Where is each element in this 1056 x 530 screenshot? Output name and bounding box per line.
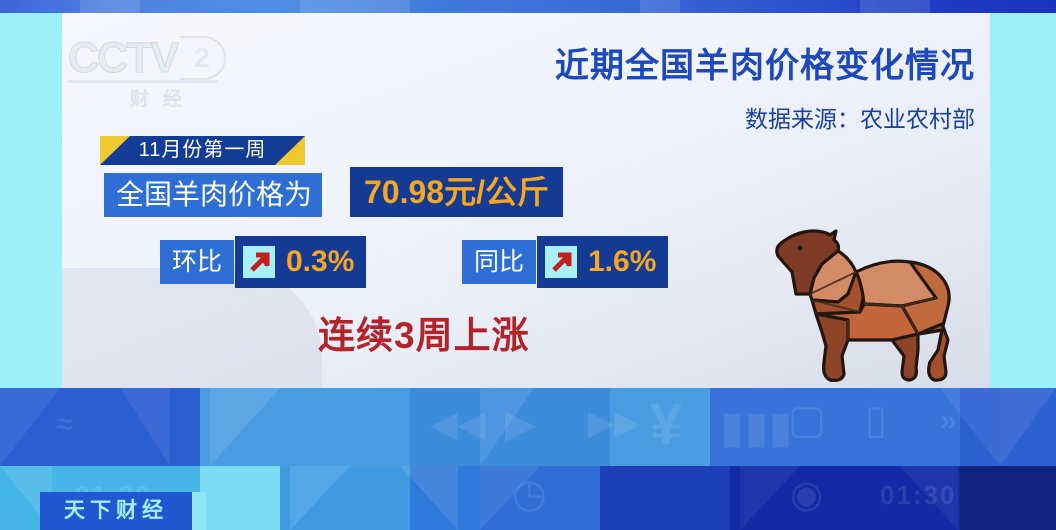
stat-chip-mom-label: 环比 (160, 240, 234, 284)
program-name-tag: 天下财经 (40, 492, 192, 530)
share-icon: ▯ (865, 400, 887, 440)
ribbon-label: 11月份第一周 (100, 136, 305, 165)
wifi-icon: ≈ (56, 410, 72, 440)
data-source-label: 数据来源：农业农村部 (455, 100, 975, 134)
chevron-right-icon: » (940, 406, 957, 436)
arrow-up-right-icon (545, 246, 577, 278)
arrow-up-right-icon (243, 246, 275, 278)
ghost-time-right: 01:30 (880, 480, 957, 511)
location-icon: ◉ (790, 476, 823, 514)
cctv-logo-underline (68, 80, 218, 83)
stat-chip-mom-value: 0.3% (286, 245, 354, 279)
price-label: 全国羊肉价格为 (104, 173, 322, 217)
cctv-logo-number: 2 (180, 36, 226, 80)
program-name-label: 天下财经 (40, 492, 192, 530)
page-title: 近期全国羊肉价格变化情况 (455, 38, 975, 87)
cctv-logo: CCTV 2 财经 (62, 30, 247, 108)
broadcast-graphic-stage: CCTV 2 财经 近期全国羊肉价格变化情况 数据来源：农业农村部 11月份第一… (0, 0, 1056, 530)
rewind-icon: ◀◀ (430, 406, 485, 442)
play-icon: ▶ (505, 404, 536, 444)
cctv-logo-text: CCTV (68, 34, 177, 83)
yuan-icon: ¥ (650, 396, 682, 454)
fast-forward-icon: ▶▶ (588, 406, 640, 440)
cctv-logo-subtitle: 财经 (130, 84, 196, 111)
bar-chart-icon: ▮▮▮ (720, 406, 793, 450)
stat-chip-yoy-label: 同比 (462, 240, 536, 284)
sheep-cuts-diagram (752, 220, 967, 390)
right-cyan-bar (990, 13, 1056, 388)
left-cyan-bar (0, 13, 62, 388)
decorative-mid-band: ≈ ◀◀ ▶ ▶▶ ¥ ▮▮▮ ▢ ▯ » (0, 388, 1056, 466)
clock-icon: ◷ (512, 474, 547, 514)
calculator-icon: ▢ (788, 400, 826, 440)
program-tag-accent (192, 492, 206, 530)
top-accent-strip (0, 0, 1056, 13)
stat-chip-yoy-value: 1.6% (588, 245, 656, 279)
highlight-text: 连续3周上涨 (318, 305, 530, 359)
period-ribbon: 11月份第一周 (100, 136, 305, 165)
price-value: 70.98元/公斤 (350, 167, 563, 217)
